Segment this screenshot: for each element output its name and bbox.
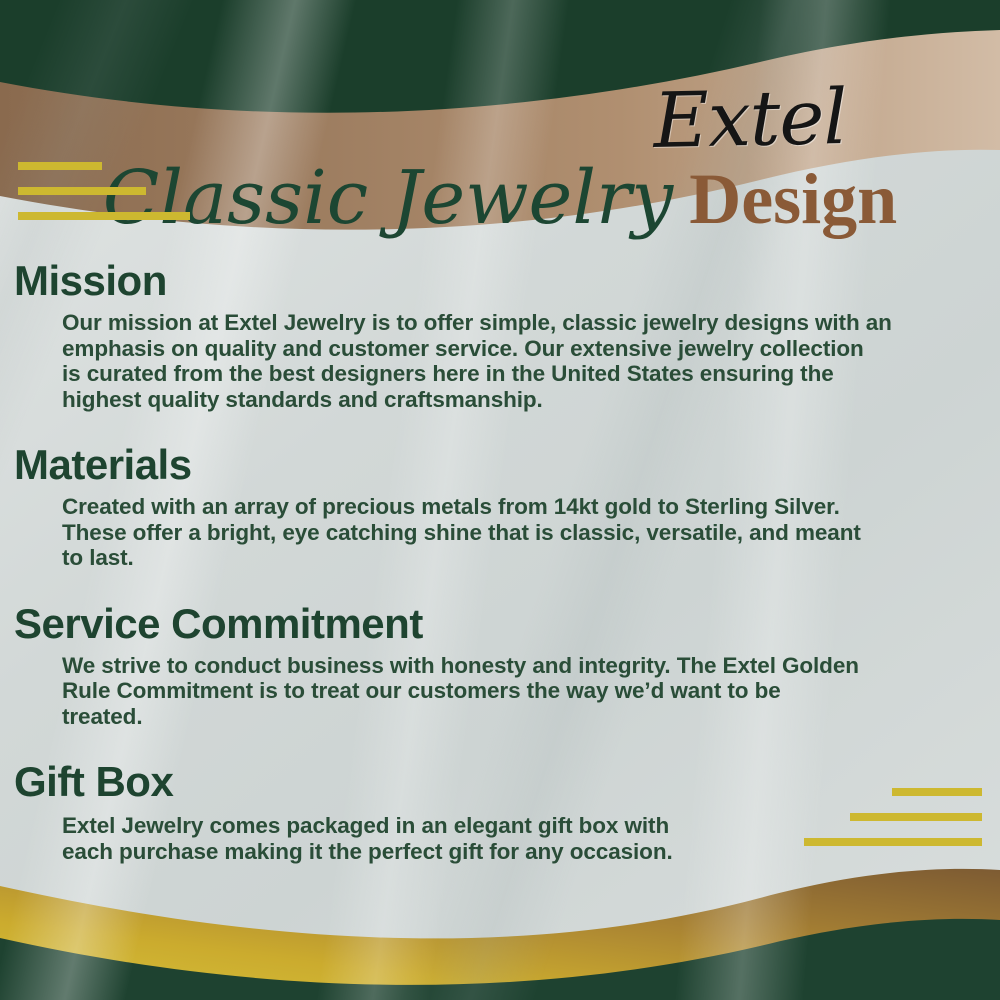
section-body-mission: Our mission at Extel Jewelry is to offer…: [62, 310, 970, 412]
section-materials: Materials Created with an array of preci…: [0, 440, 1000, 571]
body-line: These offer a bright, eye catching shine…: [62, 520, 970, 546]
accent-line: [18, 162, 102, 170]
accent-lines-top-left: [18, 162, 190, 220]
section-gift-box: Gift Box Extel Jewelry comes packaged in…: [0, 757, 1000, 864]
body-line: is curated from the best designers here …: [62, 361, 970, 387]
body-line: each purchase making it the perfect gift…: [62, 839, 970, 865]
body-line: treated.: [62, 704, 970, 730]
section-title-mission: Mission: [14, 256, 1000, 306]
section-body-gift-box: Extel Jewelry comes packaged in an elega…: [62, 813, 970, 864]
sections-list: Mission Our mission at Extel Jewelry is …: [0, 256, 1000, 872]
body-line: Extel Jewelry comes packaged in an elega…: [62, 813, 970, 839]
body-line: highest quality standards and craftsmans…: [62, 387, 970, 413]
headline-serif-text: Design: [689, 159, 897, 239]
body-line: Our mission at Extel Jewelry is to offer…: [62, 310, 970, 336]
section-mission: Mission Our mission at Extel Jewelry is …: [0, 256, 1000, 412]
accent-line: [18, 187, 146, 195]
body-line: to last.: [62, 545, 970, 571]
section-title-gift-box: Gift Box: [14, 757, 1000, 807]
body-line: emphasis on quality and customer service…: [62, 336, 970, 362]
body-line: Created with an array of precious metals…: [62, 494, 970, 520]
body-line: Rule Commitment is to treat our customer…: [62, 678, 970, 704]
section-title-service-commitment: Service Commitment: [14, 599, 1000, 649]
section-service-commitment: Service Commitment We strive to conduct …: [0, 599, 1000, 730]
body-line: We strive to conduct business with hones…: [62, 653, 970, 679]
accent-line: [18, 212, 190, 220]
poster-content: Extel Classic JewelryDesign Mission Our …: [0, 0, 1000, 1000]
brand-logo-script: Extel: [599, 71, 901, 167]
section-title-materials: Materials: [14, 440, 1000, 490]
section-body-service-commitment: We strive to conduct business with hones…: [62, 653, 970, 730]
section-body-materials: Created with an array of precious metals…: [62, 494, 970, 571]
poster-canvas: Extel Classic JewelryDesign Mission Our …: [0, 0, 1000, 1000]
